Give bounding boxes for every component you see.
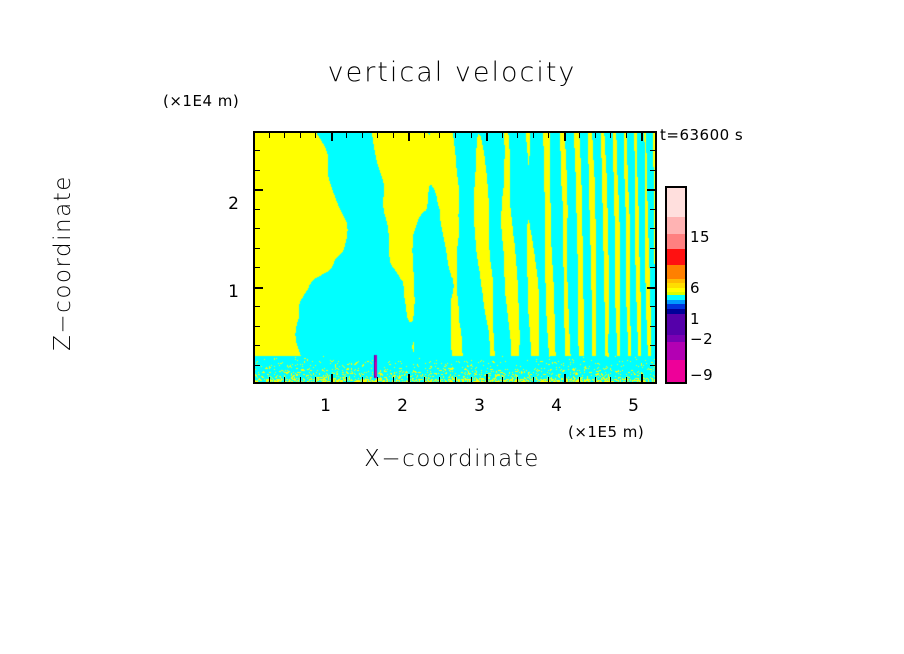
y-tick-right (650, 306, 655, 307)
x-tick-top (331, 133, 333, 141)
y-axis-title: Z−coordinate (50, 133, 76, 393)
y-tick-right (650, 267, 655, 268)
colorbar-band-13 (667, 314, 685, 335)
x-axis-title: X−coordinate (0, 446, 904, 472)
x-tick-top (502, 133, 503, 138)
colorbar-band-0 (667, 188, 685, 217)
colorbar-tick-label-4: −9 (690, 366, 713, 384)
contour-plot-area (253, 131, 657, 384)
x-tick-label-5: 5 (619, 396, 649, 416)
x-tick-bottom (610, 377, 611, 382)
x-tick-top (408, 133, 410, 141)
y-tick-right (650, 326, 655, 327)
x-tick-bottom (408, 374, 410, 382)
x-tick-top (641, 133, 643, 141)
colorbar-tick-label-0: 15 (690, 228, 710, 246)
y-tick-left (255, 248, 260, 249)
x-tick-top (300, 133, 301, 138)
x-tick-top (595, 133, 596, 138)
x-tick-top (269, 133, 270, 138)
y-tick-left (255, 306, 260, 307)
y-tick-left (255, 209, 260, 210)
x-tick-top (533, 133, 534, 138)
x-tick-top (610, 133, 611, 138)
y-tick-right (650, 248, 655, 249)
x-tick-top (393, 133, 394, 138)
x-tick-bottom (393, 377, 394, 382)
chart-title: vertical velocity (0, 57, 904, 88)
x-tick-bottom (269, 377, 270, 382)
x-tick-bottom (502, 377, 503, 382)
y-tick-right (650, 365, 655, 366)
x-tick-bottom (439, 377, 440, 382)
y-tick-right (647, 189, 655, 191)
x-tick-bottom (331, 374, 333, 382)
colorbar-tick-label-2: 1 (690, 310, 700, 328)
x-tick-top (424, 133, 425, 138)
x-tick-bottom (300, 377, 301, 382)
y-tick-right (650, 150, 655, 151)
x-tick-bottom (362, 377, 363, 382)
x-tick-top (455, 133, 456, 138)
x-tick-top (471, 133, 472, 138)
y-tick-label-1: 1 (212, 282, 240, 302)
colorbar-band-2 (667, 234, 685, 249)
figure-panel: vertical velocity (×1E4 m) t=63600 s Z−c… (0, 0, 904, 654)
x-tick-bottom (533, 377, 534, 382)
y-tick-right (650, 228, 655, 229)
x-tick-bottom (486, 374, 488, 382)
y-tick-left (255, 228, 260, 229)
y-tick-label-2: 2 (212, 194, 240, 214)
x-tick-top (564, 133, 566, 141)
x-axis-unit-label: (×1E5 m) (568, 423, 644, 441)
y-tick-right (647, 287, 655, 289)
x-tick-bottom (424, 377, 425, 382)
x-tick-bottom (315, 377, 316, 382)
colorbar-band-3 (667, 249, 685, 266)
x-tick-label-3: 3 (465, 396, 495, 416)
x-tick-bottom (517, 377, 518, 382)
y-tick-left (255, 287, 263, 289)
colorbar-band-1 (667, 217, 685, 234)
x-tick-top (284, 133, 285, 138)
colorbar-band-15 (667, 342, 685, 360)
y-tick-right (650, 170, 655, 171)
x-tick-bottom (284, 377, 285, 382)
x-tick-top (517, 133, 518, 138)
x-tick-bottom (595, 377, 596, 382)
x-tick-bottom (579, 377, 580, 382)
x-tick-top (548, 133, 549, 138)
x-tick-label-4: 4 (542, 396, 572, 416)
colorbar-band-16 (667, 360, 685, 382)
x-tick-bottom (471, 377, 472, 382)
x-tick-top (346, 133, 347, 138)
x-tick-top (377, 133, 378, 138)
x-tick-top (315, 133, 316, 138)
x-tick-label-2: 2 (388, 396, 418, 416)
y-tick-left (255, 170, 260, 171)
x-tick-top (579, 133, 580, 138)
timestamp-annotation: t=63600 s (660, 126, 743, 144)
colorbar-tick-label-3: −2 (690, 330, 713, 348)
x-tick-bottom (626, 377, 627, 382)
y-tick-right (650, 345, 655, 346)
vertical-velocity-field (255, 133, 655, 382)
y-tick-left (255, 150, 260, 151)
x-tick-bottom (641, 374, 643, 382)
x-tick-bottom (548, 377, 549, 382)
x-tick-bottom (346, 377, 347, 382)
y-tick-right (650, 209, 655, 210)
x-tick-bottom (455, 377, 456, 382)
x-tick-label-1: 1 (311, 396, 341, 416)
x-tick-top (439, 133, 440, 138)
y-tick-left (255, 326, 260, 327)
y-axis-unit-label: (×1E4 m) (163, 92, 239, 110)
y-tick-left (255, 345, 260, 346)
x-tick-bottom (564, 374, 566, 382)
colorbar (665, 186, 687, 384)
y-tick-left (255, 189, 263, 191)
colorbar-tick-label-1: 6 (690, 279, 700, 297)
colorbar-band-4 (667, 265, 685, 279)
x-tick-top (486, 133, 488, 141)
x-tick-bottom (377, 377, 378, 382)
x-tick-top (362, 133, 363, 138)
y-tick-left (255, 267, 260, 268)
x-tick-top (626, 133, 627, 138)
y-tick-left (255, 365, 260, 366)
